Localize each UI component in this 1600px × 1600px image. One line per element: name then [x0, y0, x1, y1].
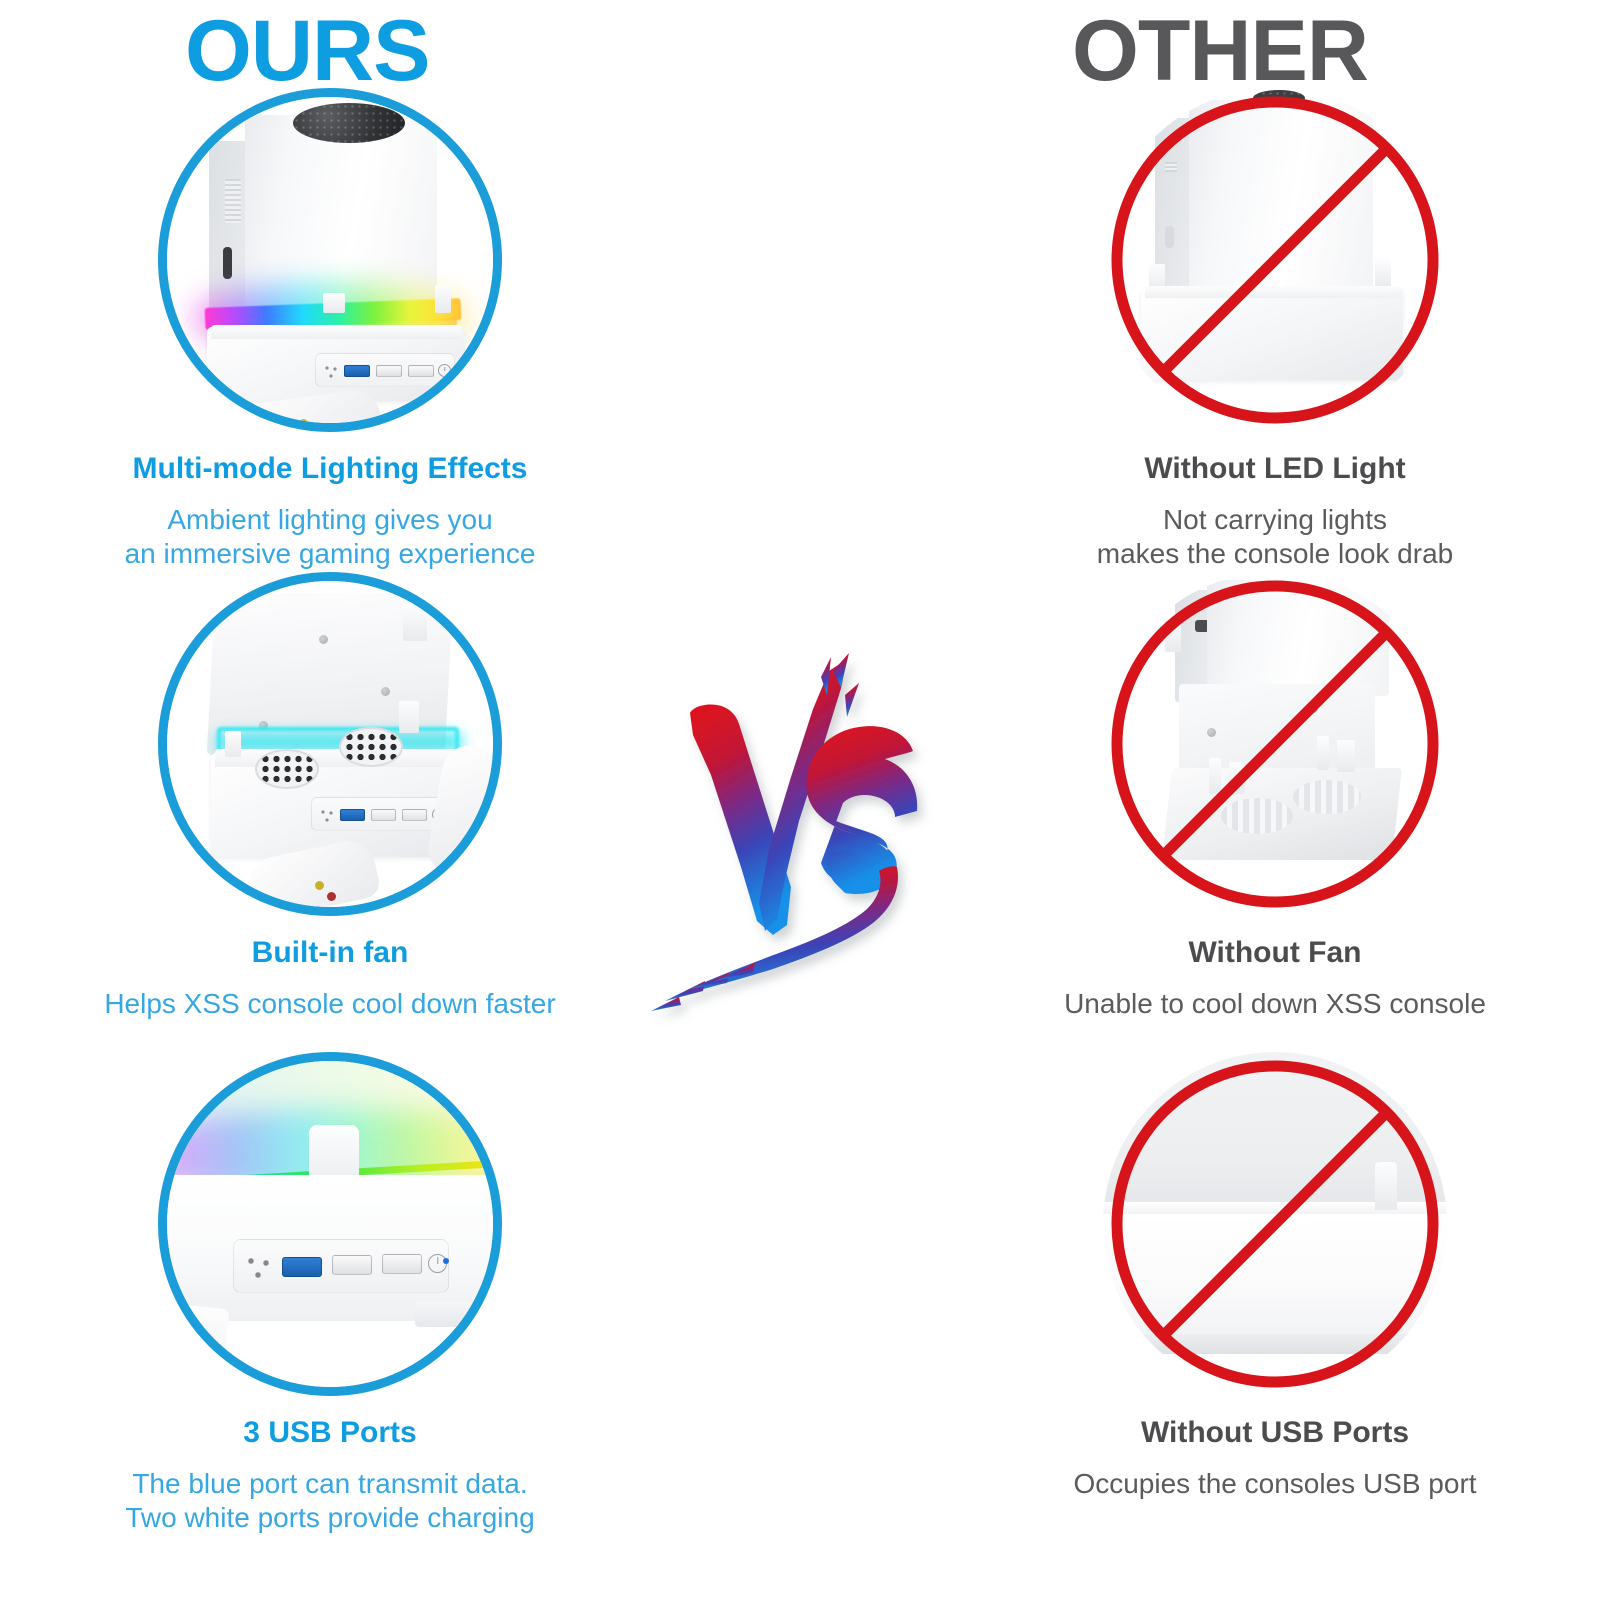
product-photo-rgb-stand — [167, 97, 493, 423]
cooling-fan-2 — [339, 727, 403, 767]
caption-heading: Multi-mode Lighting Effects — [10, 452, 650, 487]
usb-port-panel — [233, 1239, 449, 1293]
caption-body: Ambient lighting gives you an immersive … — [10, 503, 650, 571]
product-photo-bare-tray — [1103, 572, 1447, 916]
product-photo-usb-closeup — [167, 1061, 493, 1387]
caption-heading: 3 USB Ports — [10, 1416, 650, 1451]
product-photo-plain-stand — [1103, 88, 1447, 432]
usb-port-white-2 — [382, 1254, 422, 1274]
usb-port-blue — [344, 365, 370, 377]
caption-other-no-led: Without LED Light Not carrying lights ma… — [955, 452, 1595, 571]
caption-heading: Without Fan — [955, 936, 1595, 971]
photo-frame-other-no-led — [1103, 88, 1447, 432]
comparison-infographic: OURS OTHER — [0, 0, 1600, 1600]
comparison-2-other: Without Fan Unable to cool down XSS cons… — [955, 572, 1595, 1021]
caption-ours-fan: Built-in fan Helps XSS console cool down… — [10, 936, 650, 1021]
comparison-3-ours: 3 USB Ports The blue port can transmit d… — [10, 1052, 650, 1535]
caption-other-no-fan: Without Fan Unable to cool down XSS cons… — [955, 936, 1595, 1021]
photo-frame-ours-usb — [158, 1052, 502, 1396]
comparison-1-other: Without LED Light Not carrying lights ma… — [955, 88, 1595, 571]
usb-port-white-2 — [402, 809, 427, 821]
caption-body: Occupies the consoles USB port — [955, 1467, 1595, 1501]
caption-body: Helps XSS console cool down faster — [10, 987, 650, 1021]
photo-frame-other-no-usb — [1103, 1052, 1447, 1396]
caption-heading: Without LED Light — [955, 452, 1595, 487]
comparison-3-other: Without USB Ports Occupies the consoles … — [955, 1052, 1595, 1501]
usb-port-white-2 — [408, 365, 434, 377]
product-photo-builtin-fans — [167, 581, 493, 907]
usb-port-panel — [311, 797, 449, 831]
usb-port-panel — [315, 353, 455, 387]
comparison-2-ours: Built-in fan Helps XSS console cool down… — [10, 572, 650, 1021]
usb-port-white-1 — [376, 365, 402, 377]
photo-frame-ours-lighting — [158, 88, 502, 432]
vs-badge — [645, 635, 945, 1035]
vs-brush-logo-icon — [645, 635, 945, 1035]
usb-port-white-1 — [332, 1255, 372, 1275]
caption-body: The blue port can transmit data. Two whi… — [10, 1467, 650, 1535]
caption-other-no-usb: Without USB Ports Occupies the consoles … — [955, 1416, 1595, 1501]
cooling-fan-1 — [255, 749, 319, 789]
photo-frame-ours-fan — [158, 572, 502, 916]
usb-port-white-1 — [371, 809, 396, 821]
usb-port-blue — [282, 1257, 322, 1277]
usb-port-blue — [340, 809, 365, 821]
caption-body: Unable to cool down XSS console — [955, 987, 1595, 1021]
product-photo-plain-front — [1103, 1052, 1447, 1396]
caption-ours-lighting: Multi-mode Lighting Effects Ambient ligh… — [10, 452, 650, 571]
power-button-icon — [438, 364, 451, 377]
comparison-1-ours: Multi-mode Lighting Effects Ambient ligh… — [10, 88, 650, 571]
caption-heading: Without USB Ports — [955, 1416, 1595, 1451]
caption-body: Not carrying lights makes the console lo… — [955, 503, 1595, 571]
photo-frame-other-no-fan — [1103, 572, 1447, 916]
column-title-other: OTHER — [1072, 8, 1368, 94]
caption-heading: Built-in fan — [10, 936, 650, 971]
column-title-ours: OURS — [185, 8, 429, 94]
caption-ours-usb: 3 USB Ports The blue port can transmit d… — [10, 1416, 650, 1535]
